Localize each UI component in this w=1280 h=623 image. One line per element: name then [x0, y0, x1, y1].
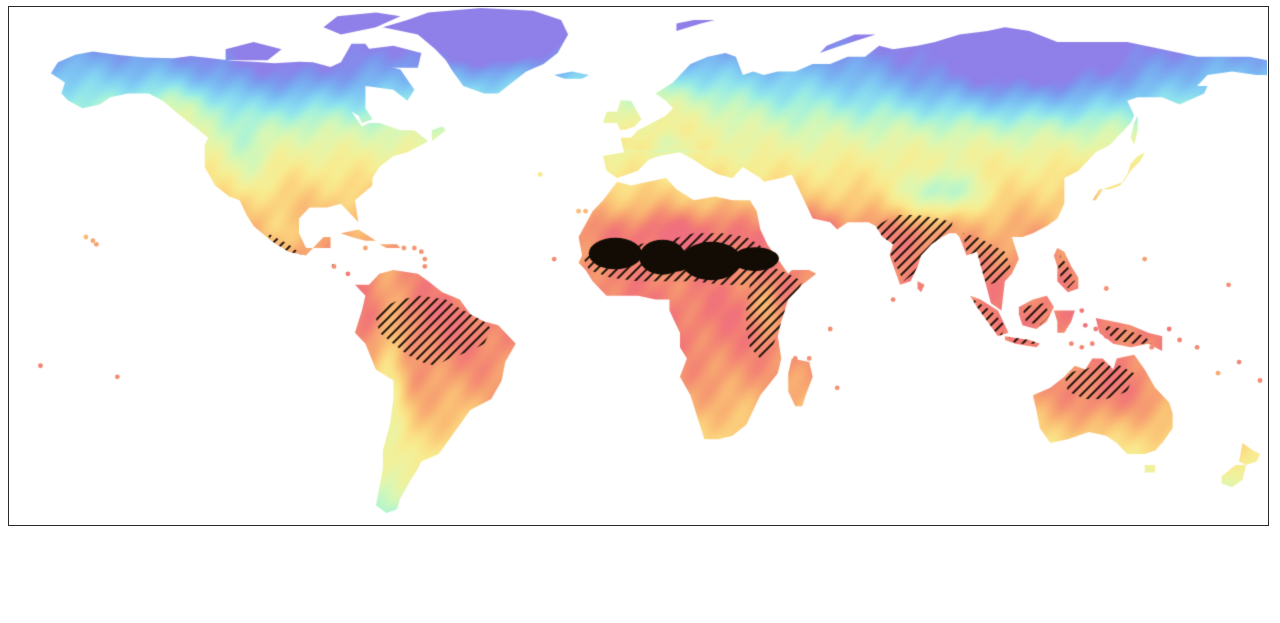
map-canvas — [9, 7, 1267, 524]
legend: Mean annual temperature -20-100102030 oC — [0, 532, 1280, 623]
world-temperature-map-panel — [8, 6, 1269, 526]
figure-root: Mean annual temperature -20-100102030 oC — [0, 0, 1280, 623]
